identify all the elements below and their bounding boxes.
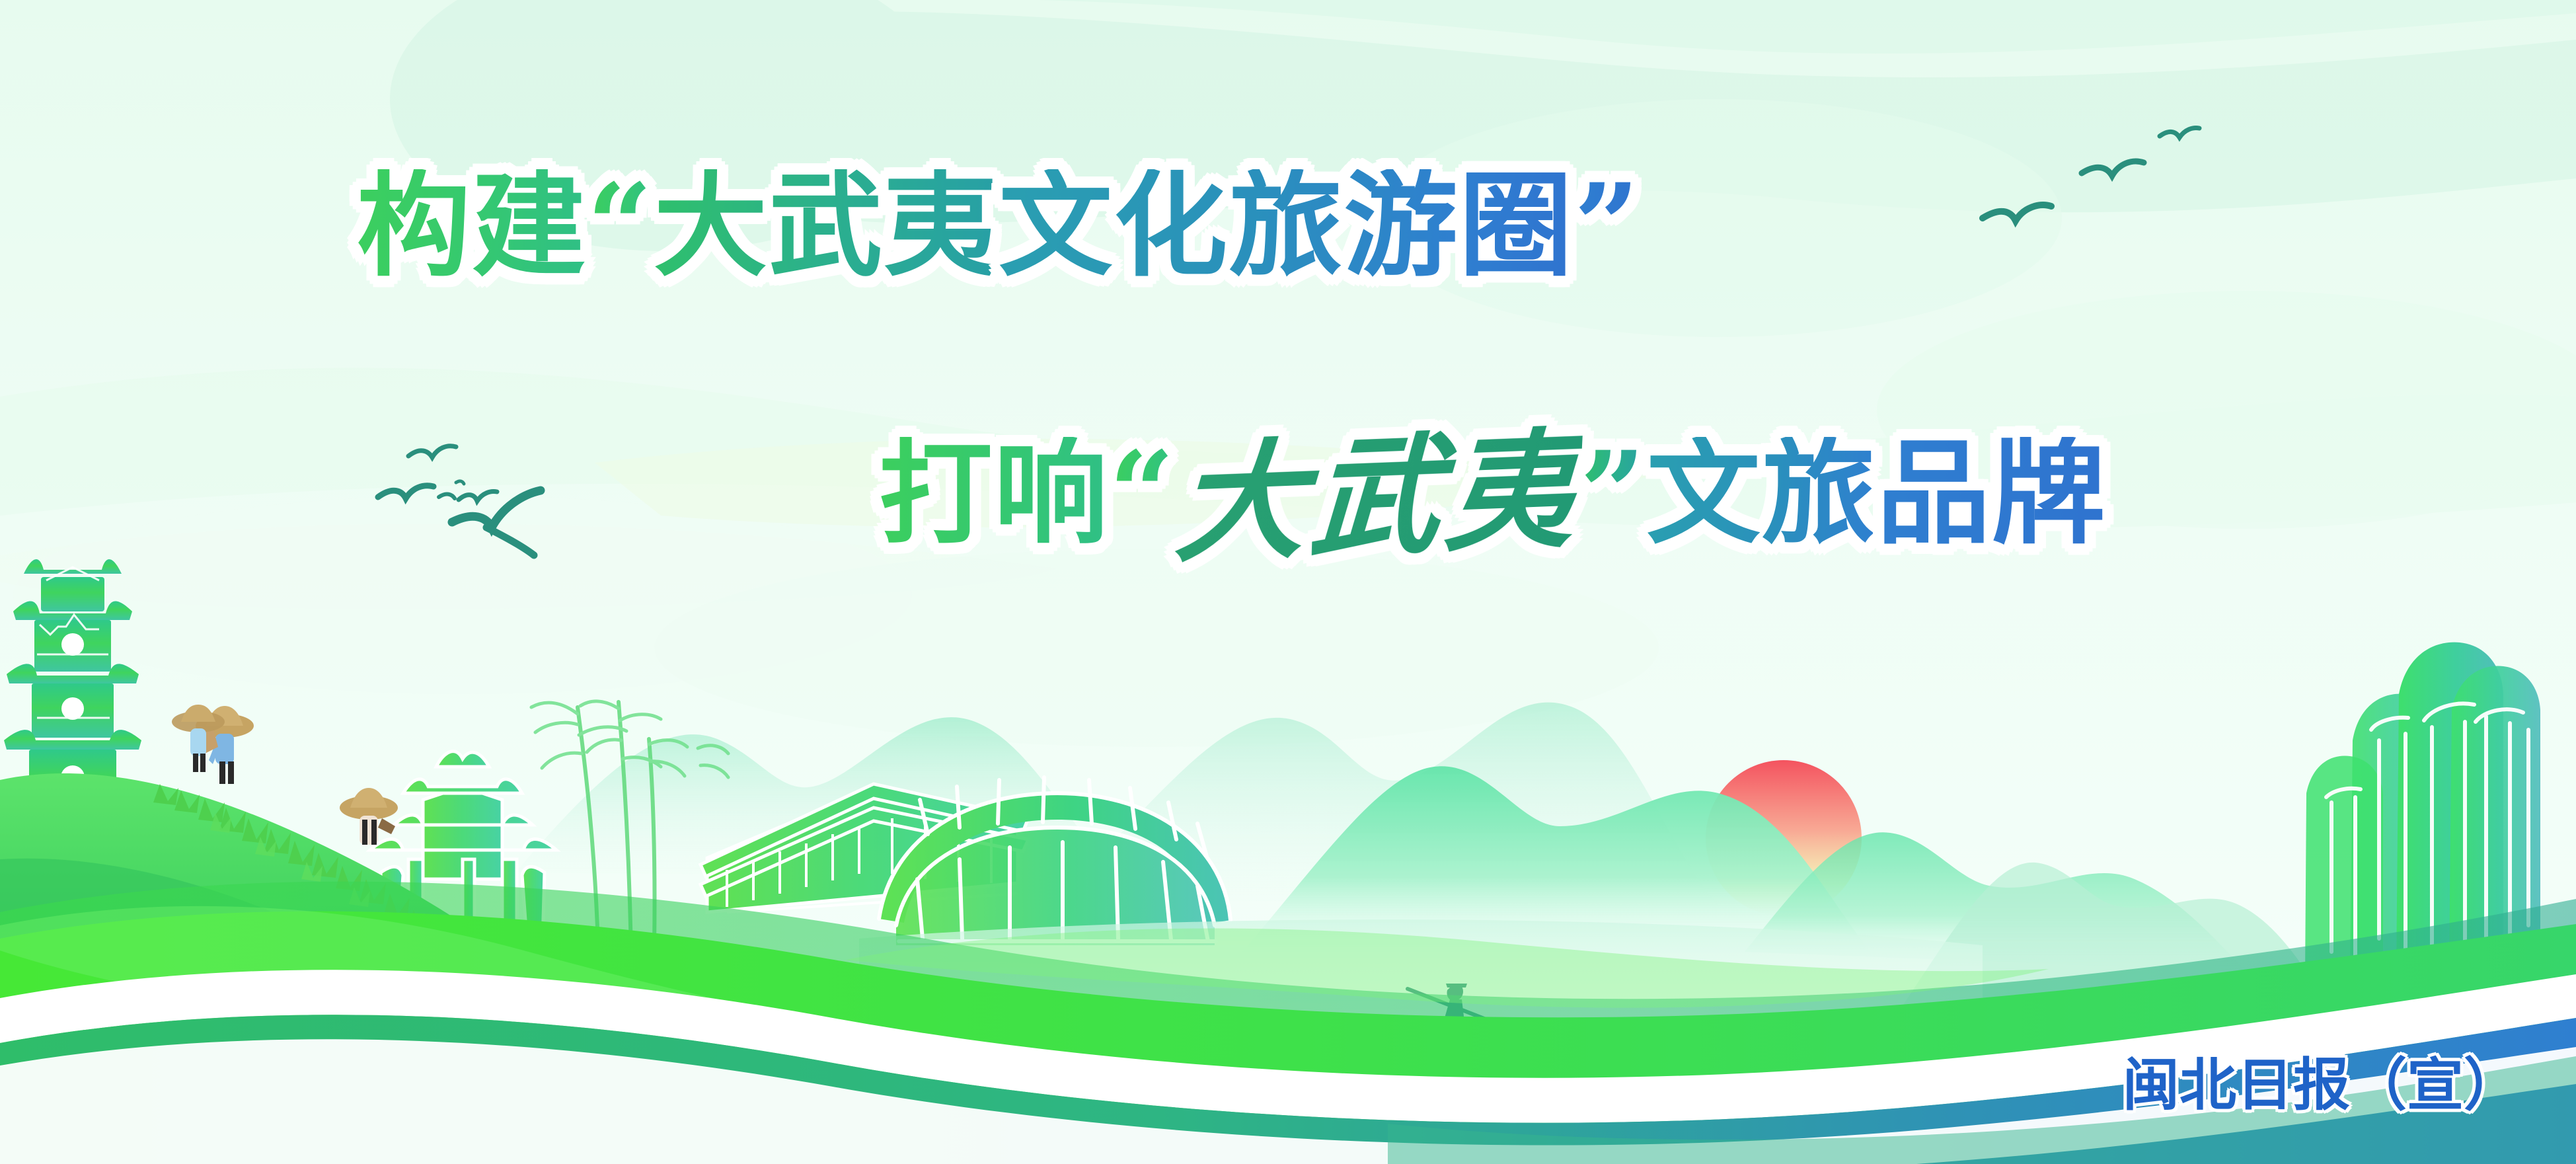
scenic-illustration (0, 0, 2576, 1164)
poster-banner: 构建“大武夷文化旅游圈” 打响“大武夷”文旅品牌 闽北日报（宣） (0, 0, 2576, 1164)
cloud-blob-3 (1375, 99, 2062, 337)
